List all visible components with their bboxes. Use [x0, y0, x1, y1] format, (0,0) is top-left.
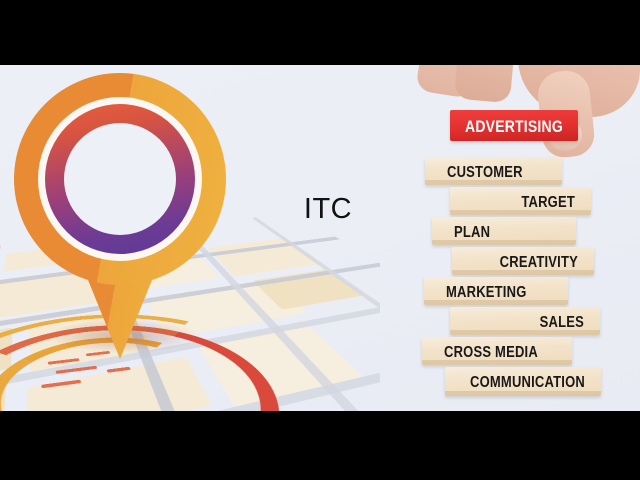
block-label: PLAN: [454, 222, 490, 240]
center-text-itc: ITC: [268, 193, 388, 226]
letterbox-bar-bottom: [0, 411, 640, 480]
block-label: ADVERTISING: [465, 116, 563, 135]
block-label: CUSTOMER: [447, 162, 523, 180]
block-communication[interactable]: COMMUNICATION: [445, 367, 601, 396]
location-pin-logo: [14, 73, 226, 355]
block-target[interactable]: TARGET: [450, 187, 591, 215]
block-label: MARKETING: [446, 282, 527, 300]
block-sales[interactable]: SALES: [450, 307, 600, 335]
block-customer[interactable]: CUSTOMER: [425, 157, 562, 185]
block-creativity[interactable]: CREATIVITY: [452, 247, 594, 275]
block-cross-media[interactable]: CROSS MEDIA: [422, 337, 572, 365]
block-label: CREATIVITY: [500, 252, 578, 270]
hand-finger-middle: [454, 65, 518, 103]
block-marketing[interactable]: MARKETING: [424, 277, 568, 305]
block-label: CROSS MEDIA: [444, 342, 538, 360]
block-advertising[interactable]: ADVERTISING: [450, 110, 578, 141]
blocks-scene: ADVERTISING CUSTOMER TARGET PLAN CREATIV…: [400, 65, 640, 411]
block-label: TARGET: [521, 192, 575, 210]
block-label: COMMUNICATION: [470, 373, 585, 391]
block-label: SALES: [540, 312, 584, 330]
video-content-area: ITC ADVERTISING CUSTOMER TARGET PLAN CRE…: [0, 65, 640, 411]
pin-center-hole: [64, 123, 176, 235]
video-frame-stage: ITC ADVERTISING CUSTOMER TARGET PLAN CRE…: [0, 0, 640, 480]
letterbox-bar-top: [0, 0, 640, 65]
block-plan[interactable]: PLAN: [432, 217, 576, 245]
